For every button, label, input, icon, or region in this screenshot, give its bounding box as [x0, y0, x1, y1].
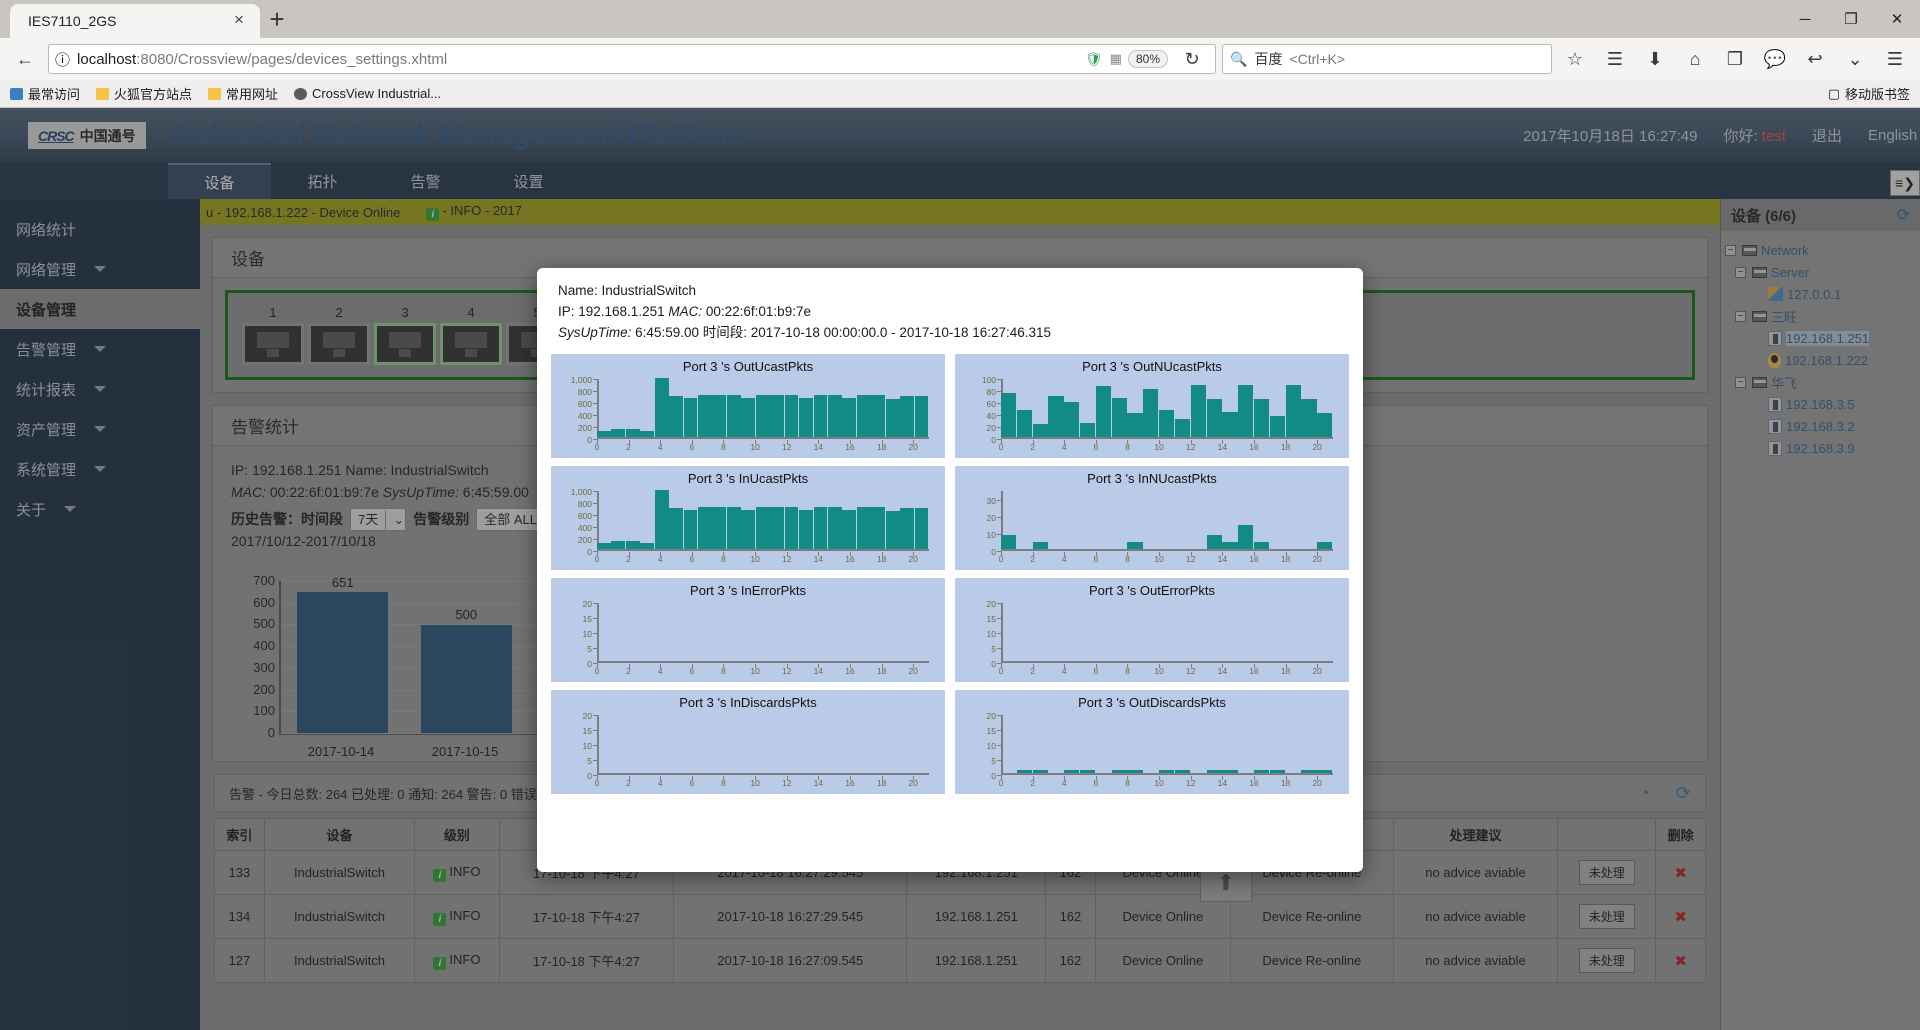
- bar[interactable]: [1222, 412, 1237, 437]
- chart-plot-area: 02004006008001,00002468101214161820: [597, 491, 929, 551]
- port-statistics-dialog: Name: IndustrialSwitch IP: 192.168.1.251…: [537, 268, 1363, 872]
- bar[interactable]: [727, 507, 741, 549]
- x-axis-tick: [1317, 664, 1318, 668]
- bar[interactable]: [669, 508, 683, 549]
- info-icon: ⓘ: [55, 49, 70, 70]
- x-axis: [597, 437, 929, 439]
- chart-plot-area: 010203002468101214161820: [1001, 491, 1333, 551]
- y-axis-tick-label: 10: [987, 741, 996, 751]
- bar[interactable]: [814, 395, 828, 437]
- x-axis-tick: [597, 440, 598, 444]
- bookmarks-bar: 最常访问火狐官方站点常用网址CrossView Industrial...▢移动…: [0, 80, 1920, 108]
- bar[interactable]: [1064, 402, 1079, 437]
- x-axis-tick: [818, 664, 819, 668]
- window-controls: ─ ❐ ✕: [1782, 0, 1920, 38]
- y-axis-tick: [997, 648, 1002, 649]
- bar[interactable]: [857, 395, 871, 437]
- y-axis-tick-label: 15: [987, 614, 996, 624]
- x-axis: [1001, 549, 1333, 551]
- modal-ip-mac-line: IP: 192.168.1.251 MAC: 00:22:6f:01:b9:7e: [558, 301, 1349, 322]
- x-axis-tick: [1033, 664, 1034, 668]
- y-axis-tick-label: 20: [987, 599, 996, 609]
- x-axis-tick: [850, 440, 851, 444]
- y-axis-tick-label: 600: [578, 511, 592, 521]
- y-axis-tick: [997, 745, 1002, 746]
- bar[interactable]: [1301, 770, 1316, 773]
- y-axis-tick-label: 0: [587, 659, 592, 669]
- download-icon[interactable]: ⬇: [1638, 42, 1672, 76]
- tab-strip: IES7110_2GS × + ─ ❐ ✕: [0, 0, 1920, 38]
- bookmark-star-icon[interactable]: ☆: [1558, 42, 1592, 76]
- y-axis-tick-label: 600: [578, 399, 592, 409]
- bar[interactable]: [1112, 398, 1127, 437]
- chart-out-nucast: Port 3 's OutNUcastPkts02040608010002468…: [955, 354, 1349, 458]
- x-axis-tick: [913, 664, 914, 668]
- x-axis-tick: [723, 664, 724, 668]
- x-axis-tick: [723, 776, 724, 780]
- x-axis-tick: [913, 552, 914, 556]
- folder-icon: [96, 88, 109, 100]
- chart-plot-area: 02004006008001,00002468101214161820: [597, 379, 929, 439]
- x-axis-tick: [882, 552, 883, 556]
- bar[interactable]: [1254, 399, 1269, 437]
- browser-tab[interactable]: IES7110_2GS ×: [10, 4, 260, 38]
- y-axis-tick-label: 0: [587, 435, 592, 445]
- bar[interactable]: [900, 396, 914, 437]
- bar[interactable]: [1286, 385, 1301, 437]
- x-axis-tick: [1254, 776, 1255, 780]
- undo-icon[interactable]: ↩: [1798, 42, 1832, 76]
- x-axis-tick: [1159, 440, 1160, 444]
- folder-icon: [208, 88, 221, 100]
- y-axis-tick-label: 800: [578, 499, 592, 509]
- bar[interactable]: [770, 395, 784, 437]
- reload-icon[interactable]: ↻: [1175, 42, 1209, 76]
- y-axis-tick-label: 40: [987, 411, 996, 421]
- y-axis-tick: [593, 760, 598, 761]
- bar[interactable]: [1222, 542, 1237, 549]
- grid-icon: ▦: [1110, 51, 1121, 67]
- x-axis-tick: [1033, 552, 1034, 556]
- y-axis-tick-label: 400: [578, 523, 592, 533]
- bar[interactable]: [655, 490, 669, 549]
- x-axis-tick: [787, 440, 788, 444]
- x-axis: [597, 661, 929, 663]
- bar[interactable]: [669, 396, 683, 437]
- x-axis-tick: [1096, 776, 1097, 780]
- x-axis-tick: [692, 440, 693, 444]
- y-axis-tick: [997, 715, 1002, 716]
- bar[interactable]: [1017, 410, 1032, 437]
- chart-in-nucast: Port 3 's InNUcastPkts010203002468101214…: [955, 466, 1349, 570]
- y-axis-tick-label: 400: [578, 411, 592, 421]
- bar[interactable]: [785, 395, 799, 437]
- zoom-level-badge[interactable]: 80%: [1128, 50, 1168, 68]
- bar[interactable]: [1001, 535, 1016, 549]
- bar[interactable]: [1301, 399, 1316, 437]
- bar[interactable]: [1033, 542, 1048, 549]
- chart-plot-area: 0510152002468101214161820: [1001, 603, 1333, 663]
- bar[interactable]: [1191, 385, 1206, 437]
- y-axis-tick-label: 15: [583, 614, 592, 624]
- x-axis-tick: [660, 440, 661, 444]
- chart-out-error: Port 3 's OutErrorPkts051015200246810121…: [955, 578, 1349, 682]
- x-axis: [1001, 661, 1333, 663]
- x-axis-tick: [1222, 552, 1223, 556]
- x-axis-tick: [850, 776, 851, 780]
- bookmark-item[interactable]: 火狐官方站点: [96, 84, 192, 103]
- bar[interactable]: [814, 507, 828, 549]
- y-axis-tick: [593, 415, 598, 416]
- bookmark-label: 火狐官方站点: [114, 84, 192, 103]
- bar[interactable]: [915, 396, 929, 437]
- y-axis-tick-label: 10: [987, 629, 996, 639]
- x-axis-tick: [1191, 440, 1192, 444]
- bar[interactable]: [611, 541, 625, 549]
- bar[interactable]: [684, 398, 698, 437]
- y-axis-tick-label: 100: [982, 375, 996, 385]
- bookmark-label: CrossView Industrial...: [312, 86, 441, 101]
- bookmark-label: 常用网址: [226, 84, 278, 103]
- x-axis-tick: [1254, 664, 1255, 668]
- bar[interactable]: [1127, 413, 1142, 438]
- x-axis-tick: [1286, 440, 1287, 444]
- x-axis: [1001, 773, 1333, 775]
- y-axis-tick-label: 5: [587, 756, 592, 766]
- bar[interactable]: [1254, 542, 1269, 549]
- y-axis-tick-label: 80: [987, 387, 996, 397]
- x-axis-tick: [787, 552, 788, 556]
- y-axis-tick: [593, 539, 598, 540]
- y-axis-tick-label: 1,000: [571, 487, 592, 497]
- y-axis-tick-label: 15: [987, 726, 996, 736]
- bar[interactable]: [1222, 770, 1237, 773]
- x-axis-tick: [1286, 664, 1287, 668]
- search-engine-label: 百度: [1254, 49, 1282, 69]
- bar[interactable]: [1001, 393, 1016, 437]
- bar[interactable]: [597, 431, 611, 438]
- x-axis-tick: [818, 776, 819, 780]
- bar[interactable]: [611, 429, 625, 437]
- x-axis-tick: [1254, 552, 1255, 556]
- x-axis-tick: [629, 440, 630, 444]
- bar[interactable]: [1207, 399, 1222, 437]
- bar[interactable]: [886, 399, 900, 437]
- y-axis-tick: [593, 491, 598, 492]
- x-axis-tick: [818, 552, 819, 556]
- bar[interactable]: [1207, 770, 1222, 773]
- x-axis-tick: [629, 552, 630, 556]
- bar[interactable]: [915, 508, 929, 549]
- mobile-icon: ▢: [1828, 86, 1840, 102]
- bar[interactable]: [1207, 535, 1222, 549]
- bar[interactable]: [1159, 770, 1174, 773]
- bar[interactable]: [626, 429, 640, 437]
- bar[interactable]: [1112, 770, 1127, 773]
- x-axis-tick: [882, 440, 883, 444]
- y-axis-tick-label: 20: [583, 711, 592, 721]
- search-bar[interactable]: 🔍 百度 <Ctrl+K>: [1222, 44, 1552, 74]
- bar[interactable]: [640, 543, 654, 550]
- bar[interactable]: [1270, 416, 1285, 438]
- y-axis-tick: [997, 618, 1002, 619]
- bar[interactable]: [1096, 386, 1111, 437]
- port-chart-grid: Port 3 's OutUcastPkts02004006008001,000…: [551, 354, 1349, 794]
- x-axis-tick: [1191, 664, 1192, 668]
- y-axis-tick: [997, 760, 1002, 761]
- y-axis-tick-label: 60: [987, 399, 996, 409]
- x-axis-tick: [1254, 440, 1255, 444]
- tab-title: IES7110_2GS: [28, 13, 228, 29]
- chart-plot-area: 0510152002468101214161820: [1001, 715, 1333, 775]
- globe-icon: [294, 88, 307, 100]
- y-axis-tick: [997, 379, 1002, 380]
- bar[interactable]: [655, 378, 669, 437]
- address-bar[interactable]: ⓘ localhost:8080/Crossview/pages/devices…: [48, 44, 1216, 74]
- bar[interactable]: [756, 507, 770, 549]
- x-axis-tick: [913, 440, 914, 444]
- close-icon[interactable]: ×: [228, 10, 250, 32]
- bar[interactable]: [1175, 419, 1190, 437]
- x-axis-tick: [1159, 776, 1160, 780]
- bar[interactable]: [871, 507, 885, 549]
- y-axis-tick: [997, 730, 1002, 731]
- x-axis: [1001, 437, 1333, 439]
- x-axis-tick: [723, 552, 724, 556]
- chat-icon[interactable]: 💬: [1758, 42, 1792, 76]
- x-axis-tick: [597, 552, 598, 556]
- y-axis-tick-label: 30: [987, 496, 996, 506]
- bar[interactable]: [770, 507, 784, 549]
- navigation-bar: ← ⓘ localhost:8080/Crossview/pages/devic…: [0, 38, 1920, 80]
- x-axis-tick: [1317, 552, 1318, 556]
- chart-out-discards: Port 3 's OutDiscardsPkts051015200246810…: [955, 690, 1349, 794]
- chart-title: Port 3 's InNUcastPkts: [955, 466, 1349, 486]
- x-axis-tick: [660, 664, 661, 668]
- y-axis-tick-label: 20: [583, 599, 592, 609]
- bar[interactable]: [842, 510, 856, 549]
- y-axis-tick: [593, 618, 598, 619]
- bar[interactable]: [1317, 542, 1332, 549]
- bar[interactable]: [1254, 770, 1269, 773]
- y-axis-tick-label: 20: [987, 711, 996, 721]
- browser-chrome: IES7110_2GS × + ─ ❐ ✕ ← ⓘ localhost:8080…: [0, 0, 1920, 108]
- new-tab-icon[interactable]: +: [260, 4, 294, 38]
- x-axis-tick: [1127, 664, 1128, 668]
- bar[interactable]: [828, 395, 842, 437]
- bar[interactable]: [741, 398, 755, 437]
- bar[interactable]: [741, 510, 755, 549]
- x-axis-tick: [1064, 776, 1065, 780]
- bar[interactable]: [871, 395, 885, 437]
- y-axis-tick: [593, 633, 598, 634]
- x-axis-tick: [1159, 552, 1160, 556]
- x-axis-tick: [660, 776, 661, 780]
- x-axis-tick: [1222, 440, 1223, 444]
- x-axis-tick: [723, 440, 724, 444]
- x-axis-tick: [1286, 552, 1287, 556]
- y-axis-tick-label: 10: [583, 629, 592, 639]
- chart-plot-area: 0510152002468101214161820: [597, 715, 929, 775]
- bar[interactable]: [1064, 770, 1079, 773]
- x-axis-tick: [1191, 776, 1192, 780]
- y-axis-tick: [593, 715, 598, 716]
- bar[interactable]: [857, 507, 871, 549]
- x-axis-tick: [692, 664, 693, 668]
- y-axis-tick-label: 5: [991, 644, 996, 654]
- x-axis-tick: [692, 552, 693, 556]
- x-axis: [597, 549, 929, 551]
- x-axis-tick: [1096, 552, 1097, 556]
- x-axis-tick: [850, 552, 851, 556]
- y-axis-tick-label: 10: [987, 530, 996, 540]
- bar[interactable]: [799, 398, 813, 437]
- y-axis-tick: [593, 730, 598, 731]
- chevron-down-icon[interactable]: ⌄: [1838, 42, 1872, 76]
- bar[interactable]: [1317, 770, 1332, 773]
- y-axis-tick: [593, 391, 598, 392]
- x-axis-tick: [1222, 776, 1223, 780]
- x-axis-tick: [1286, 776, 1287, 780]
- x-axis-tick: [1317, 776, 1318, 780]
- bar[interactable]: [684, 510, 698, 549]
- bar[interactable]: [785, 507, 799, 549]
- bar[interactable]: [1017, 770, 1032, 773]
- y-axis-tick-label: 200: [578, 535, 592, 545]
- x-axis-tick: [755, 776, 756, 780]
- bar[interactable]: [640, 431, 654, 438]
- url-text: localhost:8080/Crossview/pages/devices_s…: [77, 51, 1078, 68]
- bar[interactable]: [597, 543, 611, 550]
- x-axis-tick: [1001, 552, 1002, 556]
- bar[interactable]: [756, 395, 770, 437]
- bar[interactable]: [1238, 385, 1253, 437]
- home-icon[interactable]: ⌂: [1678, 42, 1712, 76]
- bar[interactable]: [799, 510, 813, 549]
- y-axis-tick: [593, 515, 598, 516]
- modal-device-info: Name: IndustrialSwitch IP: 192.168.1.251…: [551, 280, 1349, 343]
- chart-title: Port 3 's InErrorPkts: [551, 578, 945, 598]
- bar[interactable]: [1033, 770, 1048, 773]
- x-axis-tick: [1001, 776, 1002, 780]
- x-axis-tick: [787, 664, 788, 668]
- bar[interactable]: [900, 508, 914, 549]
- bar[interactable]: [1033, 424, 1048, 437]
- bar[interactable]: [1317, 413, 1332, 438]
- x-axis-tick: [1064, 440, 1065, 444]
- bar[interactable]: [1143, 389, 1158, 437]
- back-icon[interactable]: ←: [8, 42, 42, 76]
- bar[interactable]: [1127, 542, 1142, 549]
- library-icon[interactable]: ☰: [1598, 42, 1632, 76]
- bar[interactable]: [1238, 525, 1253, 549]
- x-axis-tick: [1191, 552, 1192, 556]
- bar[interactable]: [712, 395, 726, 437]
- bar[interactable]: [886, 511, 900, 549]
- y-axis-tick-label: 0: [991, 435, 996, 445]
- x-axis-tick: [1096, 664, 1097, 668]
- bar[interactable]: [1159, 410, 1174, 437]
- x-axis-tick: [1001, 664, 1002, 668]
- bookmark-item[interactable]: CrossView Industrial...: [294, 86, 441, 101]
- y-axis-tick-label: 0: [991, 547, 996, 557]
- y-axis-tick-label: 5: [991, 756, 996, 766]
- maximize-icon[interactable]: ❐: [1828, 0, 1874, 38]
- bar[interactable]: [1127, 770, 1142, 773]
- bar[interactable]: [828, 507, 842, 549]
- mobile-bookmarks-button[interactable]: ▢移动版书签: [1828, 84, 1910, 103]
- y-axis-tick: [593, 648, 598, 649]
- x-axis-tick: [1317, 440, 1318, 444]
- minimize-icon[interactable]: ─: [1782, 0, 1828, 38]
- x-axis-tick: [629, 776, 630, 780]
- window-close-icon[interactable]: ✕: [1874, 0, 1920, 38]
- y-axis-tick: [997, 517, 1002, 518]
- chart-title: Port 3 's OutNUcastPkts: [955, 354, 1349, 374]
- bar[interactable]: [1080, 770, 1095, 773]
- chart-title: Port 3 's InUcastPkts: [551, 466, 945, 486]
- y-axis-tick: [593, 527, 598, 528]
- x-axis-tick: [882, 664, 883, 668]
- y-axis-tick-label: 200: [578, 423, 592, 433]
- y-axis-tick: [593, 403, 598, 404]
- chart-out-ucast: Port 3 's OutUcastPkts02004006008001,000…: [551, 354, 945, 458]
- x-axis-tick: [913, 776, 914, 780]
- screenshot-icon[interactable]: ❐: [1718, 42, 1752, 76]
- bar[interactable]: [1175, 770, 1190, 773]
- x-axis-tick: [850, 664, 851, 668]
- chart-in-discards: Port 3 's InDiscardsPkts0510152002468101…: [551, 690, 945, 794]
- folder-icon: [10, 88, 23, 100]
- bar[interactable]: [1048, 396, 1063, 437]
- search-input[interactable]: <Ctrl+K>: [1289, 51, 1345, 67]
- chart-title: Port 3 's OutUcastPkts: [551, 354, 945, 374]
- bookmark-item[interactable]: 最常访问: [10, 84, 80, 103]
- bookmark-label: 最常访问: [28, 84, 80, 103]
- shield-icon: 🛡: [1085, 51, 1103, 68]
- chart-plot-area: 0510152002468101214161820: [597, 603, 929, 663]
- bar[interactable]: [1080, 423, 1095, 437]
- bar[interactable]: [698, 395, 712, 437]
- bar[interactable]: [626, 541, 640, 549]
- x-axis-tick: [755, 664, 756, 668]
- bookmark-item[interactable]: 常用网址: [208, 84, 278, 103]
- modal-name-line: Name: IndustrialSwitch: [558, 280, 1349, 301]
- y-axis-tick: [593, 503, 598, 504]
- mobile-bookmarks-label: 移动版书签: [1845, 84, 1910, 103]
- bar[interactable]: [712, 507, 726, 549]
- y-axis-tick-label: 20: [987, 423, 996, 433]
- search-icon: 🔍: [1230, 51, 1247, 68]
- y-axis-tick-label: 0: [587, 547, 592, 557]
- chart-title: Port 3 's OutDiscardsPkts: [955, 690, 1349, 710]
- x-axis-tick: [755, 552, 756, 556]
- y-axis-tick-label: 1,000: [571, 375, 592, 385]
- x-axis-tick: [1033, 776, 1034, 780]
- y-axis-tick-label: 800: [578, 387, 592, 397]
- x-axis-tick: [629, 664, 630, 668]
- x-axis-tick: [1127, 552, 1128, 556]
- bar[interactable]: [842, 398, 856, 437]
- y-axis-tick-label: 0: [991, 659, 996, 669]
- bar[interactable]: [727, 395, 741, 437]
- hamburger-menu-icon[interactable]: ☰: [1878, 42, 1912, 76]
- chart-plot-area: 02040608010002468101214161820: [1001, 379, 1333, 439]
- x-axis-tick: [1222, 664, 1223, 668]
- bar[interactable]: [698, 507, 712, 549]
- y-axis-tick: [593, 379, 598, 380]
- bar[interactable]: [1270, 770, 1285, 773]
